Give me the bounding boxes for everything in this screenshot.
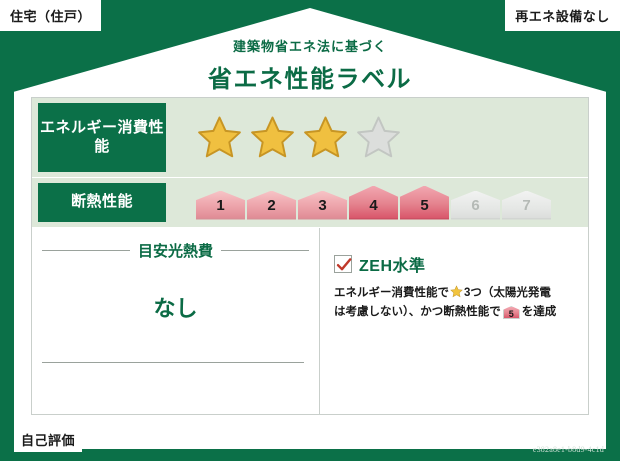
- title-subtitle: 建築物省エネ法に基づく: [0, 36, 620, 55]
- footer-meta: 評価日 2025年6月3日 e382a8e1-b8d9-4c1d: [470, 424, 604, 454]
- insulation-level-6: 6: [451, 191, 500, 220]
- insulation-scale: 1234567: [166, 178, 588, 227]
- utility-cost-divider: [42, 362, 304, 363]
- zeh-title: ZEH水準: [359, 252, 426, 276]
- label-content-card: エネルギー消費性能 断熱性能 1234567 目安光熱費 なし: [31, 97, 589, 415]
- insulation-level-1: 1: [196, 191, 245, 220]
- star-icon-filled: [196, 114, 243, 161]
- zeh-desc-part3: は考慮しない）、かつ断熱性能で: [334, 306, 501, 318]
- evaluation-date: 評価日 2025年6月3日: [470, 424, 604, 444]
- lower-section: 目安光熱費 なし ZEH水準 エネルギー消費性能で3つ（太陽光発電: [32, 228, 588, 415]
- insulation-level-4: 4: [349, 186, 398, 220]
- energy-performance-label: 住宅（住戸） 再エネ設備なし 建築物省エネ法に基づく 省エネ性能ラベル エネルギ…: [0, 0, 620, 461]
- utility-cost-heading-text: 目安光熱費: [130, 240, 221, 261]
- page-title: 建築物省エネ法に基づく 省エネ性能ラベル: [0, 36, 620, 94]
- star-icon-empty: [355, 114, 402, 161]
- label-footer: 自己評価 ハートフルタウン (新大阪)堺美原区黒山 1号棟 評価日 2025年6…: [0, 417, 620, 461]
- insulation-level-badges: 1234567: [196, 186, 551, 220]
- insulation-level-5: 5: [400, 186, 449, 220]
- zeh-desc-part2: 3つ（太陽光発電: [464, 287, 551, 299]
- insulation-performance-label: 断熱性能: [38, 183, 166, 222]
- check-icon: [335, 256, 353, 274]
- energy-performance-label: エネルギー消費性能: [38, 103, 166, 172]
- insulation-level-7: 7: [502, 191, 551, 220]
- utility-cost-value: なし: [32, 291, 319, 323]
- insulation-level-3: 3: [298, 191, 347, 220]
- self-evaluation-tag: 自己評価: [14, 427, 82, 452]
- inline-insulation-badge: 5: [503, 306, 520, 319]
- star-icon-inline: [450, 285, 463, 298]
- title-main: 省エネ性能ラベル: [0, 59, 620, 94]
- heading-rule-right: [221, 250, 309, 251]
- heading-rule-left: [42, 250, 130, 251]
- star-rating: [166, 98, 588, 177]
- insulation-level-2: 2: [247, 191, 296, 220]
- star-icon-filled: [302, 114, 349, 161]
- renewable-energy-tag: 再エネ設備なし: [505, 0, 620, 31]
- star-icon-filled: [249, 114, 296, 161]
- document-id: e382a8e1-b8d9-4c1d: [470, 445, 604, 454]
- zeh-desc-part4: を達成: [522, 306, 557, 318]
- zeh-description: エネルギー消費性能で3つ（太陽光発電 は考慮しない）、かつ断熱性能で5を達成: [334, 284, 576, 322]
- insulation-performance-row: 断熱性能 1234567: [32, 178, 588, 228]
- building-name: ハートフルタウン (新大阪)堺美原区黒山 1号棟: [91, 430, 368, 449]
- utility-cost-heading: 目安光熱費: [32, 240, 319, 261]
- zeh-desc-part1: エネルギー消費性能で: [334, 287, 449, 299]
- utility-cost-section: 目安光熱費 なし: [32, 228, 320, 415]
- zeh-heading: ZEH水準: [334, 252, 576, 276]
- zeh-checkbox[interactable]: [334, 255, 352, 273]
- energy-performance-row: エネルギー消費性能: [32, 98, 588, 178]
- zeh-section: ZEH水準 エネルギー消費性能で3つ（太陽光発電 は考慮しない）、かつ断熱性能で…: [320, 228, 588, 415]
- building-type-tag: 住宅（住戸）: [0, 0, 101, 31]
